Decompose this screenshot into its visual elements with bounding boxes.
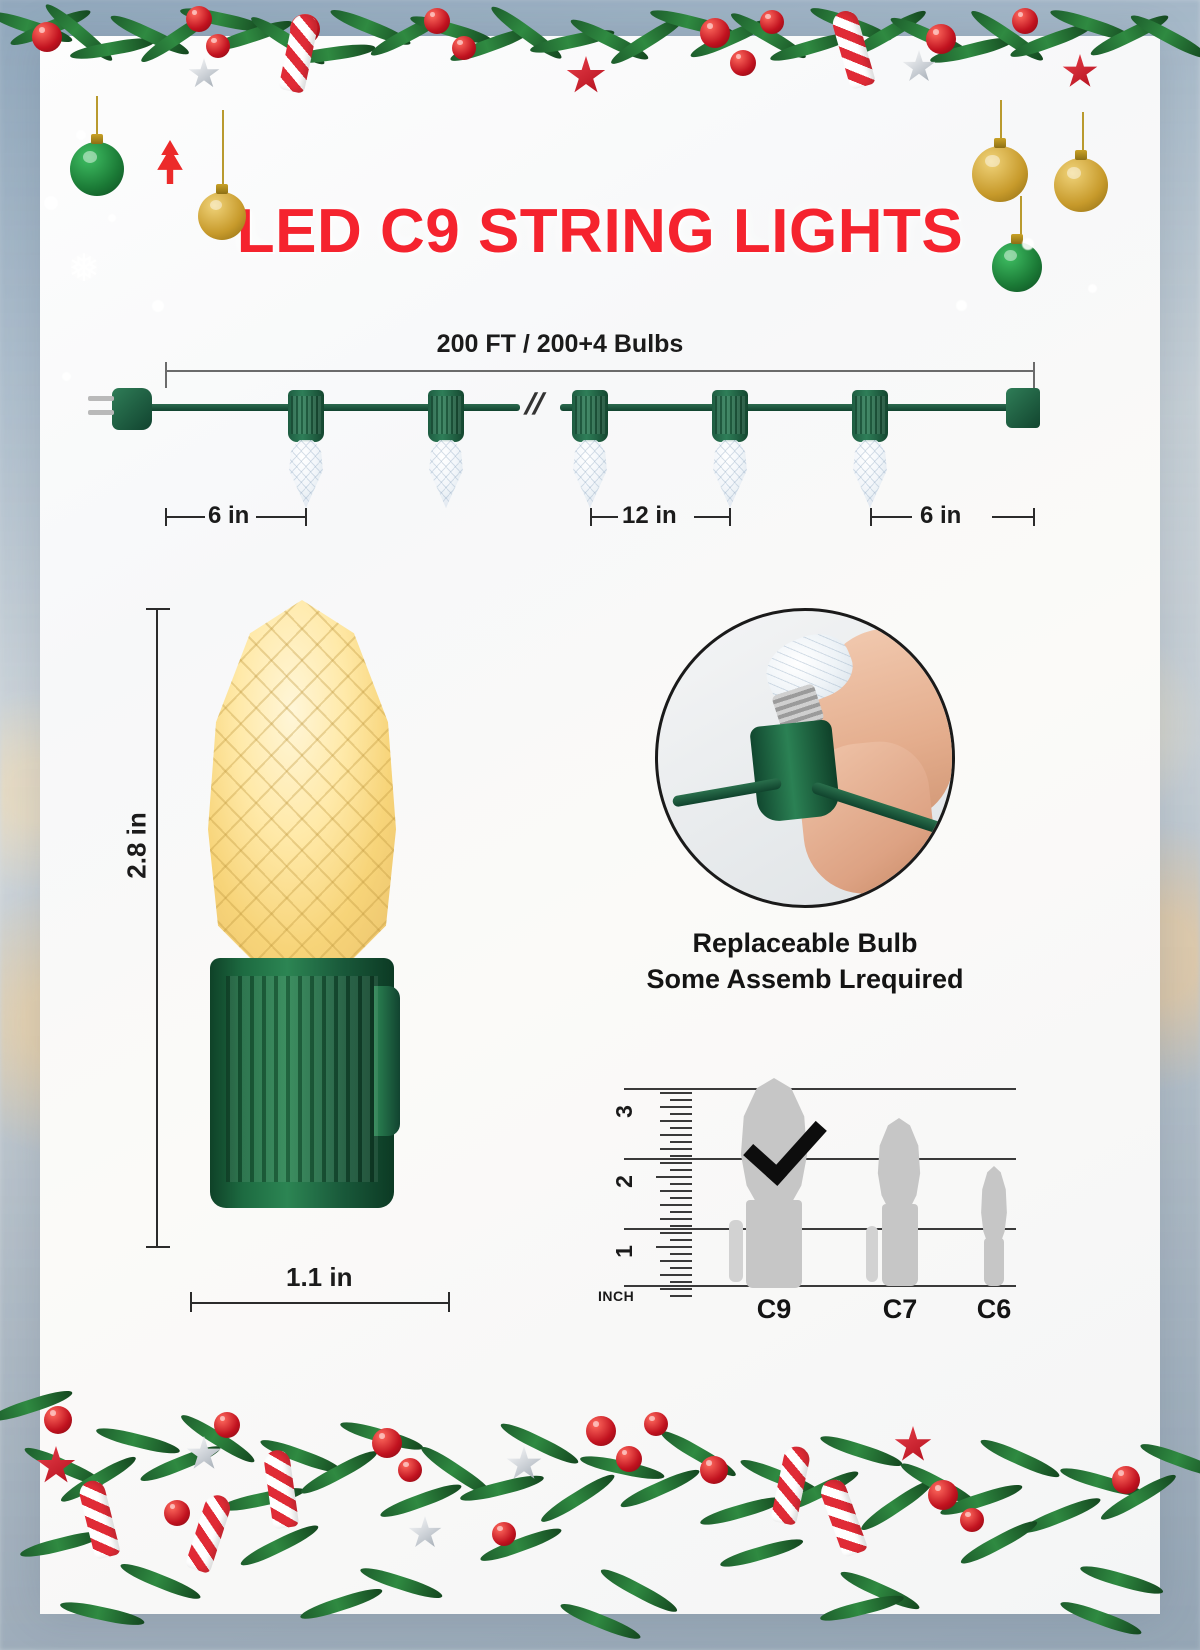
ruler-ticks (648, 1088, 692, 1310)
socket-3 (572, 390, 608, 442)
replaceable-caption-line1: Replaceable Bulb (595, 925, 1015, 961)
bulb-5 (850, 438, 890, 508)
ruler-tick (660, 1274, 692, 1276)
bulb-1 (286, 438, 326, 508)
spacing-line-3b (992, 516, 1034, 518)
ruler-tick (670, 1239, 692, 1241)
ruler-tick (670, 1169, 692, 1171)
ruler-tick (670, 1295, 692, 1297)
bulb-3 (570, 438, 610, 508)
ruler-tick (670, 1113, 692, 1115)
silhouette-c9-clip (729, 1220, 743, 1282)
ruler-unit-label: INCH (598, 1288, 634, 1304)
ruler-tick (670, 1267, 692, 1269)
ornament-green (992, 242, 1042, 292)
ruler-tick (660, 1106, 692, 1108)
wire-segment-right (560, 404, 1040, 411)
ruler-tick (670, 1281, 692, 1283)
silhouette-c6-base (984, 1238, 1004, 1286)
socket-2 (428, 390, 464, 442)
spacing-tick-1-right (305, 508, 307, 526)
ruler-tick (660, 1190, 692, 1192)
height-dim-tick-top (146, 608, 170, 610)
silhouette-c6-glass (980, 1166, 1008, 1244)
replaceable-caption-line2: Some Assemb Lrequired (595, 961, 1015, 997)
ruler-tick (660, 1232, 692, 1234)
height-dim-label: 2.8 in (122, 812, 153, 878)
bulb-green-base (210, 958, 394, 1208)
spacing-label-2: 12 in (622, 502, 677, 530)
ruler-tick (670, 1099, 692, 1101)
cmp-label-c7: C7 (852, 1294, 948, 1325)
socket-5 (852, 390, 888, 442)
ruler-tick (670, 1253, 692, 1255)
ruler-tick (660, 1134, 692, 1136)
ruler-tick (656, 1246, 692, 1248)
width-dim-tick-right (448, 1292, 450, 1312)
width-dim-line (190, 1302, 450, 1304)
ruler-mark-2: 2 (611, 1175, 638, 1188)
ruler-tick (670, 1197, 692, 1199)
spacing-label-3: 6 in (920, 502, 961, 530)
bulb-4 (710, 438, 750, 508)
silhouette-c7-glass (876, 1118, 922, 1210)
silhouette-c7-clip (866, 1226, 878, 1282)
empty-socket-icon (749, 719, 841, 823)
socket-1 (288, 390, 324, 442)
bulb-2 (426, 438, 466, 508)
ruler-tick (660, 1148, 692, 1150)
bulb-glass-cover (202, 600, 402, 970)
width-dim-label: 1.1 in (286, 1262, 352, 1293)
ruler-tick (660, 1288, 692, 1290)
bulb-size-comparison: 3 2 1 INCH (596, 1070, 1016, 1330)
hero-bulb-photo (150, 600, 490, 1260)
spacing-tick-2-right (729, 508, 731, 526)
spacing-line-1b (256, 516, 306, 518)
plug-prong-bottom (88, 410, 114, 415)
ruler-tick (670, 1155, 692, 1157)
snowflake-icon: ❅ (68, 250, 100, 288)
ruler-tick (656, 1176, 692, 1178)
ruler-tick (660, 1120, 692, 1122)
total-span-tick-left (165, 362, 167, 388)
ornament-gold (972, 146, 1028, 202)
ornament-gold (1054, 158, 1108, 212)
total-span-line (165, 370, 1035, 372)
replaceable-bulb-photo (655, 608, 955, 908)
end-connector-icon (1006, 388, 1040, 428)
ruler-tick (670, 1211, 692, 1213)
string-light-diagram: 200 FT / 200+4 Bulbs // 6 in (60, 330, 1060, 560)
silhouette-c9-base (746, 1200, 802, 1288)
ruler-tick (660, 1260, 692, 1262)
spacing-line-1a (165, 516, 205, 518)
break-mark: // (520, 388, 548, 422)
spacing-line-2a (590, 516, 618, 518)
product-infographic: LED C9 STRING LIGHTS 200 FT / 200+4 Bulb… (0, 0, 1200, 1650)
spacing-line-3a (870, 516, 912, 518)
spacing-line-2b (694, 516, 730, 518)
ruler-tick (670, 1141, 692, 1143)
ruler-tick (660, 1092, 692, 1094)
ornament-gold (198, 192, 246, 240)
total-length-label: 200 FT / 200+4 Bulbs (60, 330, 1060, 359)
spacing-label-1: 6 in (208, 502, 249, 530)
ruler-tick (660, 1204, 692, 1206)
total-span-tick-right (1033, 362, 1035, 388)
plug-prong-top (88, 396, 114, 401)
ruler-tick (670, 1127, 692, 1129)
replaceable-caption: Replaceable Bulb Some Assemb Lrequired (595, 925, 1015, 998)
cmp-label-c6: C6 (946, 1294, 1042, 1325)
spacing-tick-2-left (590, 508, 592, 526)
spacing-tick-3-right (1033, 508, 1035, 526)
power-plug-icon (112, 388, 152, 430)
height-dim-tick-bottom (146, 1246, 170, 1248)
ruler-tick (660, 1162, 692, 1164)
ruler-mark-1: 1 (611, 1245, 638, 1258)
cmp-label-c9: C9 (726, 1294, 822, 1325)
ruler-tick (660, 1218, 692, 1220)
spacing-tick-3-left (870, 508, 872, 526)
ruler-mark-3: 3 (611, 1105, 638, 1118)
ruler-tick (670, 1183, 692, 1185)
ornament-green (70, 142, 124, 196)
bulb-base-clip (374, 986, 400, 1136)
height-dim-line (156, 608, 158, 1248)
width-dim-tick-left (190, 1292, 192, 1312)
spacing-tick-1-left (165, 508, 167, 526)
socket-4 (712, 390, 748, 442)
silhouette-c7-base (882, 1204, 918, 1286)
ruler-tick (670, 1225, 692, 1227)
